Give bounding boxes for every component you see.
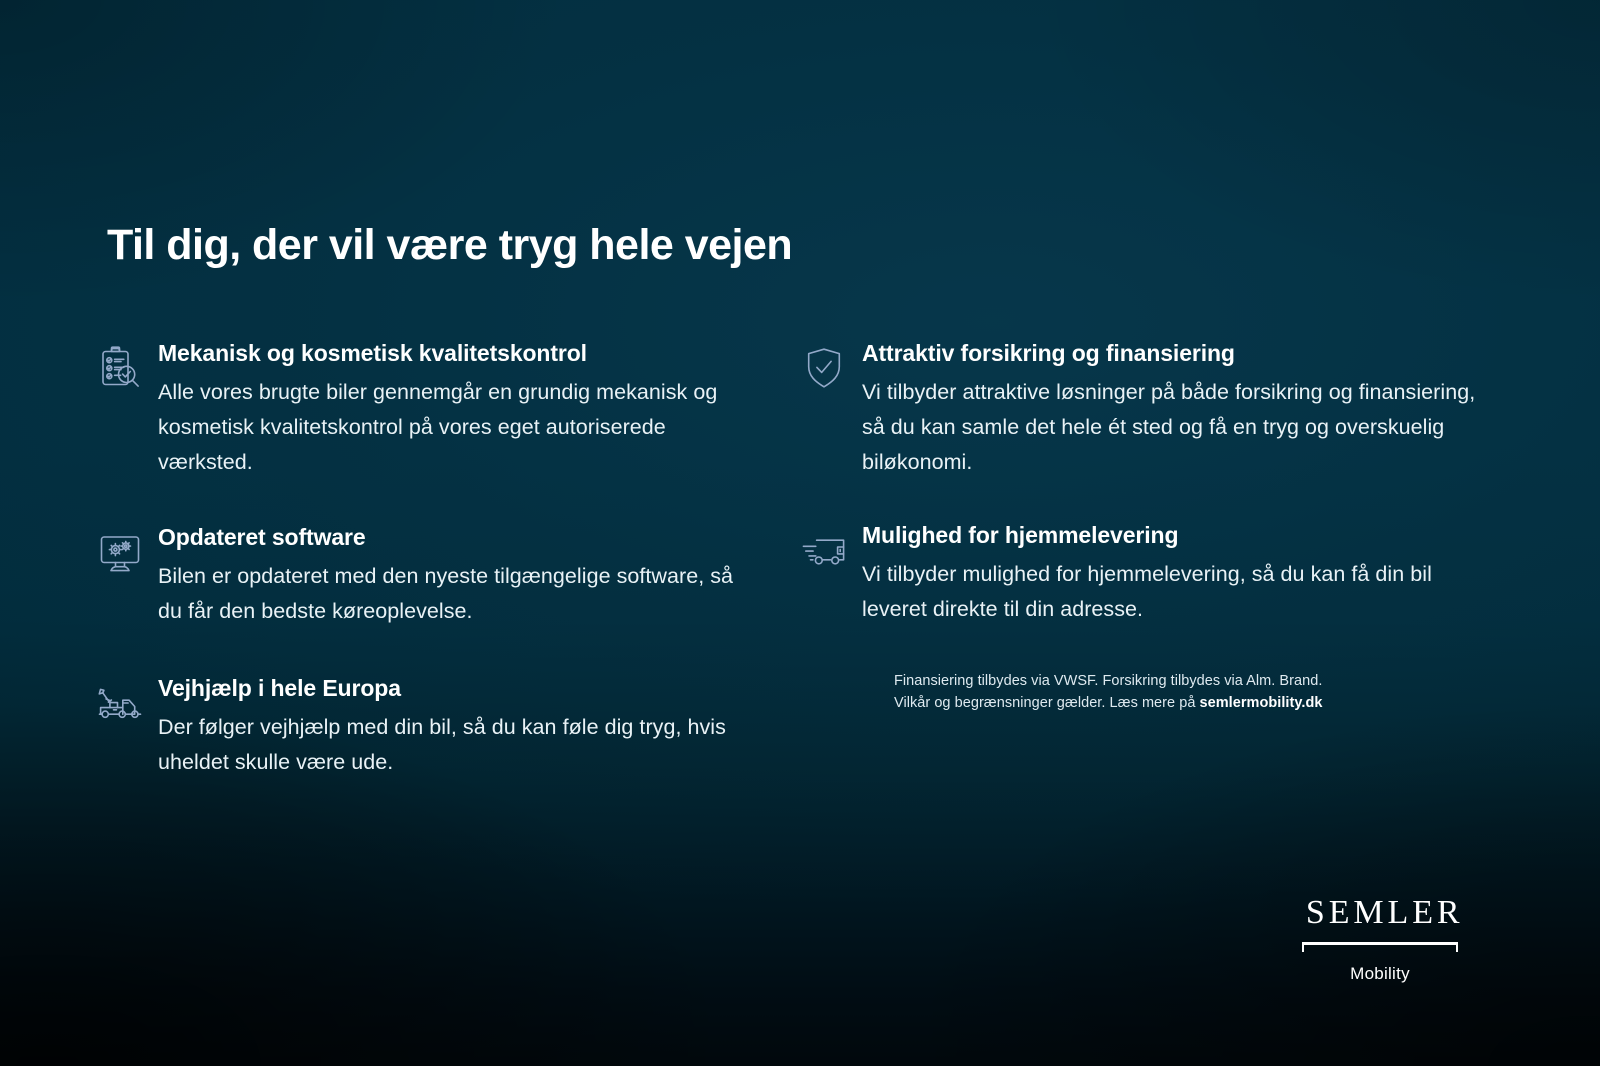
feature-item-insurance-financing: Attraktiv forsikring og finansiering Vi … <box>800 340 1500 480</box>
feature-title: Vejhjælp i hele Europa <box>158 675 756 701</box>
logo-divider <box>1302 942 1458 952</box>
feature-title: Opdateret software <box>158 524 756 550</box>
disclaimer-line-2-prefix: Vilkår og begrænsninger gælder. Læs mere… <box>894 695 1200 711</box>
feature-item-quality-control: Mekanisk og kosmetisk kvalitetskontrol A… <box>96 340 756 480</box>
logo-divider-tick-left <box>1302 942 1304 952</box>
feature-description: Vi tilbyder attraktive løsninger på både… <box>862 375 1500 479</box>
features-right-column: Attraktiv forsikring og finansiering Vi … <box>800 340 1500 665</box>
feature-item-home-delivery: Mulighed for hjemmelevering Vi tilbyder … <box>800 522 1500 627</box>
disclaimer-text: Finansiering tilbydes via VWSF. Forsikri… <box>894 670 1414 715</box>
features-left-column: Mekanisk og kosmetisk kvalitetskontrol A… <box>96 340 756 818</box>
feature-description: Vi tilbyder mulighed for hjemmelevering,… <box>862 557 1500 627</box>
feature-body: Mulighed for hjemmelevering Vi tilbyder … <box>862 522 1500 627</box>
feature-body: Vejhjælp i hele Europa Der følger vejhjæ… <box>158 675 756 780</box>
poster-content: Til dig, der vil være tryg hele vejen <box>0 0 1600 1066</box>
feature-title: Attraktiv forsikring og finansiering <box>862 340 1500 366</box>
feature-description: Bilen er opdateret med den nyeste tilgæn… <box>158 559 756 629</box>
tow-truck-icon <box>96 679 158 735</box>
clipboard-check-magnifier-icon <box>96 344 158 400</box>
semler-mobility-logo: SEMLER Mobility <box>1302 896 1458 984</box>
page-title: Til dig, der vil være tryg hele vejen <box>107 221 792 270</box>
feature-description: Alle vores brugte biler gennemgår en gru… <box>158 375 756 479</box>
feature-description: Der følger vejhjælp med din bil, så du k… <box>158 710 756 780</box>
promo-poster: Til dig, der vil være tryg hele vejen <box>0 0 1600 1066</box>
logo-divider-bar <box>1302 942 1458 945</box>
feature-item-roadside-assistance: Vejhjælp i hele Europa Der følger vejhjæ… <box>96 675 756 780</box>
feature-item-updated-software: Opdateret software Bilen er opdateret me… <box>96 524 756 629</box>
logo-divider-tick-right <box>1456 942 1458 952</box>
shield-check-icon <box>800 344 862 400</box>
logo-wordmark: SEMLER <box>1302 896 1458 930</box>
feature-title: Mekanisk og kosmetisk kvalitetskontrol <box>158 340 756 366</box>
semlermobility-link[interactable]: semlermobility.dk <box>1200 695 1323 711</box>
feature-body: Opdateret software Bilen er opdateret me… <box>158 524 756 629</box>
disclaimer-line-1: Finansiering tilbydes via VWSF. Forsikri… <box>894 673 1322 689</box>
feature-body: Attraktiv forsikring og finansiering Vi … <box>862 340 1500 480</box>
feature-body: Mekanisk og kosmetisk kvalitetskontrol A… <box>158 340 756 480</box>
monitor-gears-icon <box>96 528 158 584</box>
logo-subtitle: Mobility <box>1302 964 1458 984</box>
delivery-truck-icon <box>800 526 862 582</box>
feature-title: Mulighed for hjemmelevering <box>862 522 1500 548</box>
